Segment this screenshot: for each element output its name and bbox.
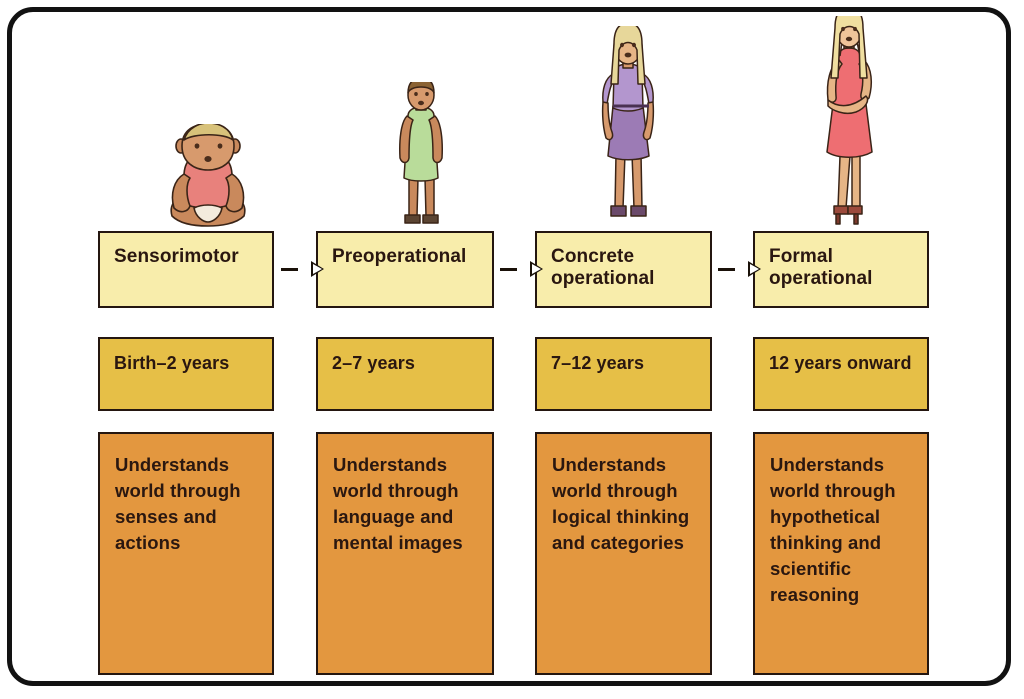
stage-label: Sensorimotor bbox=[114, 246, 239, 267]
description-box-formal-operational[interactable]: Understands world through hypothetical t… bbox=[753, 432, 929, 675]
stage-box-preoperational[interactable]: Preoperational bbox=[316, 231, 494, 308]
description-label: Understands world through language and m… bbox=[333, 454, 463, 553]
age-box-preoperational[interactable]: 2–7 years bbox=[316, 337, 494, 411]
description-box-preoperational[interactable]: Understands world through language and m… bbox=[316, 432, 494, 675]
age-box-formal-operational[interactable]: 12 years onward bbox=[753, 337, 929, 411]
age-label: 7–12 years bbox=[551, 353, 644, 373]
age-label: 2–7 years bbox=[332, 353, 415, 373]
age-box-sensorimotor[interactable]: Birth–2 years bbox=[98, 337, 274, 411]
description-box-concrete-operational[interactable]: Understands world through logical thinki… bbox=[535, 432, 712, 675]
arrow-concrete-to-formal bbox=[718, 259, 748, 281]
teenager-standing-figure bbox=[808, 16, 890, 236]
description-label: Understands world through senses and act… bbox=[115, 454, 241, 553]
description-label: Understands world through hypothetical t… bbox=[770, 454, 896, 605]
arrow-preoperational-to-concrete bbox=[500, 259, 530, 281]
age-label: Birth–2 years bbox=[114, 353, 229, 373]
stage-box-formal-operational[interactable]: Formal operational bbox=[753, 231, 929, 308]
arrow-sensorimotor-to-preoperational bbox=[281, 259, 311, 281]
stage-label: Preoperational bbox=[332, 246, 466, 267]
baby-sitting-figure bbox=[150, 124, 268, 234]
age-label: 12 years onward bbox=[769, 353, 912, 373]
description-box-sensorimotor[interactable]: Understands world through senses and act… bbox=[98, 432, 274, 675]
stage-box-concrete-operational[interactable]: Concrete operational bbox=[535, 231, 712, 308]
stage-label: Concrete operational bbox=[551, 246, 655, 289]
diagram-canvas: Sensorimotor Preoperational Concrete ope… bbox=[0, 0, 1024, 699]
young-child-standing-figure bbox=[384, 82, 458, 234]
stage-label: Formal operational bbox=[769, 246, 873, 289]
stage-box-sensorimotor[interactable]: Sensorimotor bbox=[98, 231, 274, 308]
older-child-standing-figure bbox=[589, 26, 667, 234]
age-box-concrete-operational[interactable]: 7–12 years bbox=[535, 337, 712, 411]
description-label: Understands world through logical thinki… bbox=[552, 454, 689, 553]
